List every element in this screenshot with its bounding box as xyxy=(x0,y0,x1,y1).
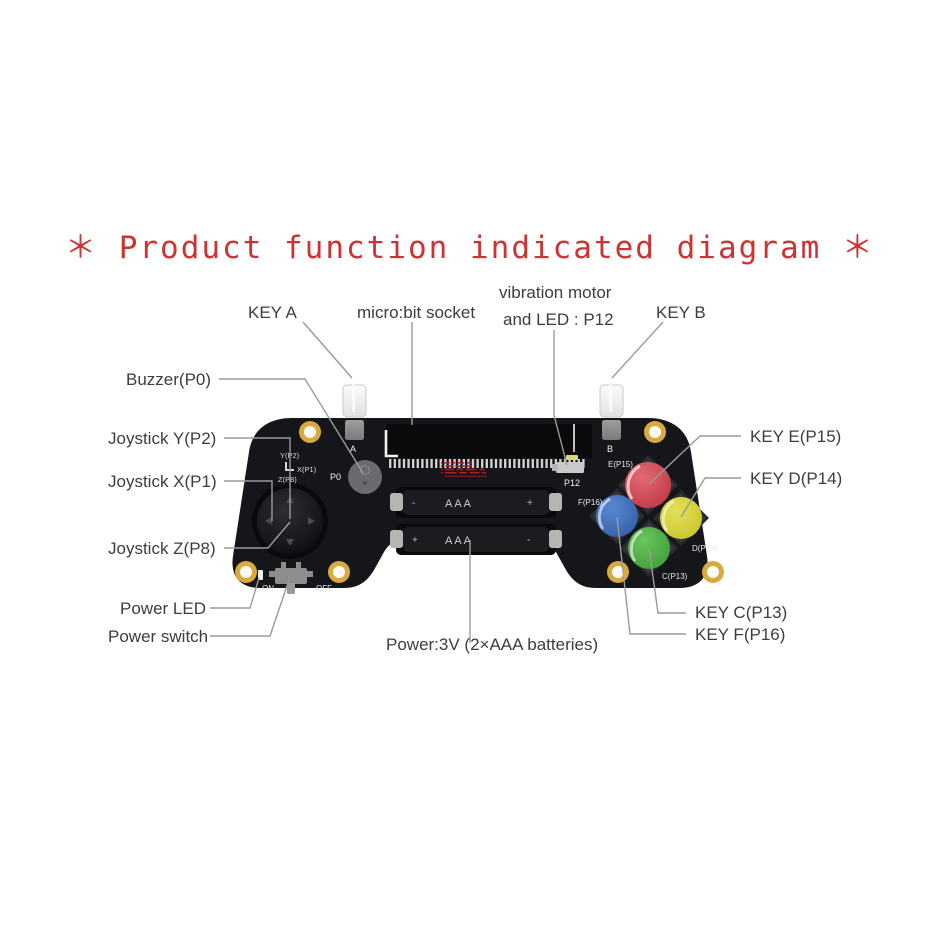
callout-buzzer: Buzzer(P0) xyxy=(126,370,211,389)
callout-key-b: KEY B xyxy=(656,303,706,322)
silk-p12: P12 xyxy=(564,478,580,488)
silk-e-p15: E(P15) xyxy=(608,460,633,469)
silk-f-p16: F(P16) xyxy=(578,498,603,507)
mounting-hole xyxy=(328,561,350,583)
mounting-hole xyxy=(299,421,321,443)
mounting-hole xyxy=(607,561,629,583)
battery-top-plus: + xyxy=(527,498,533,509)
microbit-socket[interactable] xyxy=(386,424,592,468)
leader-key-b xyxy=(612,322,663,378)
mounting-hole xyxy=(702,561,724,583)
mounting-hole xyxy=(644,421,666,443)
silk-p0: P0 xyxy=(330,472,341,482)
callout-key-c: KEY C(P13) xyxy=(695,603,787,622)
silk-c-p13: C(P13) xyxy=(662,572,688,581)
gamepad-diagram-svg: P12 A B Y(P2) X(P1) xyxy=(0,0,940,940)
battery-top-label: AAA xyxy=(445,498,473,510)
callout-vibration-line2: and LED : P12 xyxy=(503,310,614,329)
callout-power-source: Power:3V (2×AAA batteries) xyxy=(386,635,598,654)
battery-holder-top: - AAA + xyxy=(390,487,562,518)
silk-off: OFF xyxy=(316,584,332,593)
battery-bottom-label: AAA xyxy=(445,535,473,547)
silk-b: B xyxy=(607,444,613,454)
silk-joystick-x: X(P1) xyxy=(297,465,317,474)
battery-bottom-plus: + xyxy=(412,535,418,546)
callout-key-f: KEY F(P16) xyxy=(695,625,785,644)
silk-joystick-z: Z(P8) xyxy=(278,475,297,484)
callout-joystick-z: Joystick Z(P8) xyxy=(108,539,216,558)
leader-key-a xyxy=(303,322,352,378)
callout-key-d: KEY D(P14) xyxy=(750,469,842,488)
callout-joystick-y: Joystick Y(P2) xyxy=(108,429,216,448)
battery-holder-bottom: + AAA - xyxy=(390,524,562,555)
battery-bottom-minus: - xyxy=(527,535,530,546)
callout-joystick-x: Joystick X(P1) xyxy=(108,472,217,491)
callout-vibration-line1: vibration motor xyxy=(499,283,612,302)
battery-top-minus: - xyxy=(412,498,415,509)
callout-power-switch: Power switch xyxy=(108,627,208,646)
callout-microbit-socket: micro:bit socket xyxy=(357,303,475,322)
silk-d-p14: D(P14) xyxy=(692,544,718,553)
silk-on: ON xyxy=(262,584,274,593)
callout-key-e: KEY E(P15) xyxy=(750,427,841,446)
mounting-hole xyxy=(235,561,257,583)
diagram-canvas: ＊ Product function indicated diagram ＊ xyxy=(0,0,940,940)
callout-key-a: KEY A xyxy=(248,303,297,322)
callout-power-led: Power LED xyxy=(120,599,206,618)
